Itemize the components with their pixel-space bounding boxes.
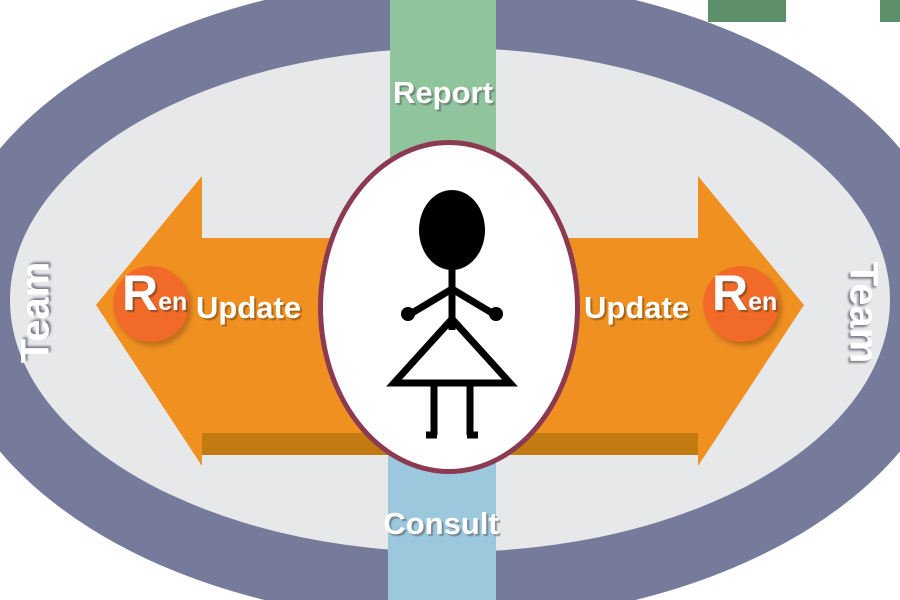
figure-hand-left [401,307,415,321]
figure-hand-right [489,307,503,321]
ren-right-main: R [712,265,748,321]
update-label-right: Update [584,290,689,326]
ren-left-subscript: en [158,288,187,316]
ren-badge-right-text: Ren [712,268,777,318]
figure-head [419,190,485,270]
stick-figure-person-icon [378,185,526,455]
figure-arm-right [452,289,492,313]
team-label-right: Team [840,262,885,364]
report-label: Report [343,75,543,111]
update-label-left: Update [196,290,301,326]
figure-arm-left [412,289,452,313]
ren-left-main: R [122,265,158,321]
ren-right-subscript: en [748,288,777,316]
team-label-left: Team [13,262,58,364]
diagram-canvas: Ren Ren Update Update Report Consult Tea… [0,0,900,600]
ren-badge-left-text: Ren [122,268,187,318]
consult-label: Consult [341,506,541,542]
